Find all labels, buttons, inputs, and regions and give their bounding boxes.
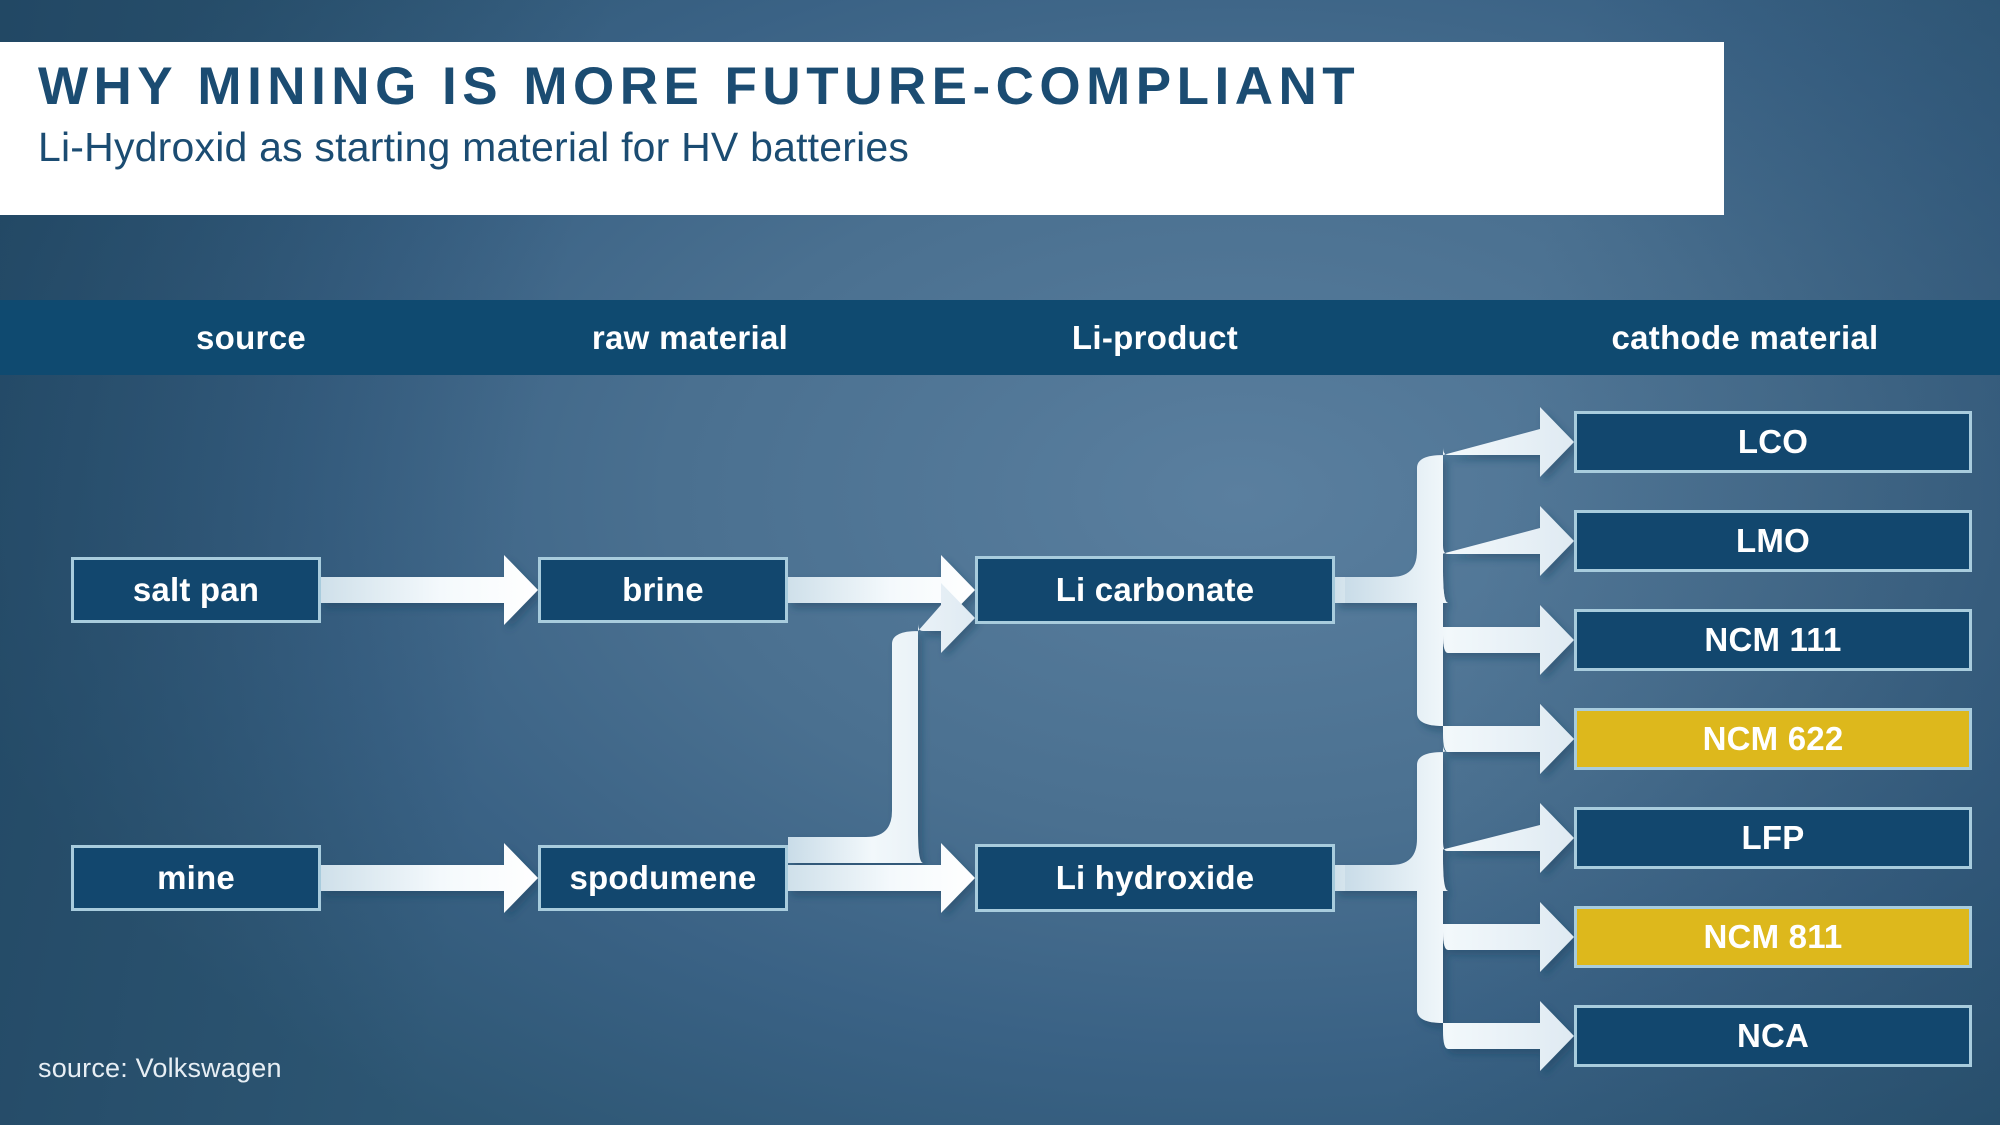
node-label: NCA [1737,1017,1809,1055]
node-label: LFP [1742,819,1805,857]
node-mine[interactable]: mine [71,845,321,911]
node-label: Li hydroxide [1056,859,1255,897]
node-label: NCM 811 [1704,918,1843,956]
node-lfp[interactable]: LFP [1574,807,1972,869]
node-lco[interactable]: LCO [1574,411,1972,473]
arrow-spodumene-to-li-carbonate [788,583,975,863]
node-nca[interactable]: NCA [1574,1005,1972,1067]
node-label: spodumene [570,859,757,897]
node-li-hydroxide[interactable]: Li hydroxide [975,844,1335,912]
node-label: LMO [1736,522,1810,560]
node-ncm-111[interactable]: NCM 111 [1574,609,1972,671]
node-ncm-622[interactable]: NCM 622 [1574,708,1972,770]
arrow-salt-pan-to-brine [321,555,538,625]
node-label: NCM 111 [1704,621,1841,659]
node-brine[interactable]: brine [538,557,788,623]
node-spodumene[interactable]: spodumene [538,845,788,911]
node-label: NCM 622 [1703,720,1844,758]
node-label: Li carbonate [1056,571,1255,609]
node-label: salt pan [133,571,259,609]
node-label: brine [622,571,704,609]
node-label: LCO [1738,423,1808,461]
arrow-li-hydroxide-to-nca [1345,865,1574,1071]
node-li-carbonate[interactable]: Li carbonate [975,556,1335,624]
node-lmo[interactable]: LMO [1574,510,1972,572]
arrow-li-carbonate-to-lco [1345,407,1574,603]
source-attribution: source: Volkswagen [38,1053,282,1084]
arrow-mine-to-spodumene [321,843,538,913]
node-label: mine [157,859,235,897]
node-ncm-811[interactable]: NCM 811 [1574,906,1972,968]
node-salt-pan[interactable]: salt pan [71,557,321,623]
flow-diagram: salt panbrineLi carbonateminespodumeneLi… [0,0,2000,1125]
